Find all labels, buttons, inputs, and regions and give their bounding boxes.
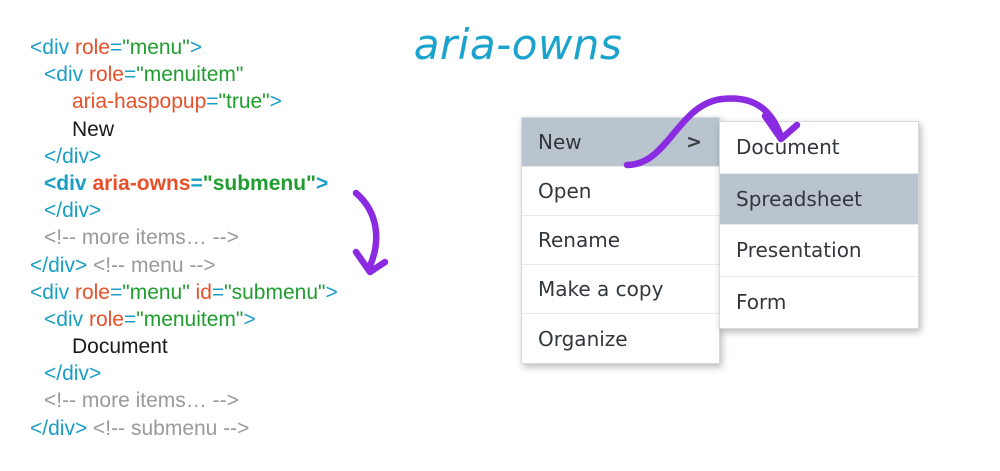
menu-item-label: Make a copy	[538, 277, 663, 301]
code-token-attr: role	[75, 281, 110, 304]
code-token-tag: >	[325, 281, 337, 304]
main-menu-item-open[interactable]: Open	[522, 167, 719, 216]
code-token-tag: </div>	[30, 254, 93, 277]
code-token-attr: id	[196, 281, 212, 304]
menu-item-label: Rename	[538, 228, 620, 252]
code-line: aria-haspopup="true">	[30, 88, 450, 115]
code-token-tag: <div	[44, 172, 92, 195]
code-line: </div> <!-- menu -->	[30, 252, 450, 279]
main-menu-item-make-a-copy[interactable]: Make a copy	[522, 265, 719, 314]
menu-item-label: Open	[538, 179, 591, 203]
menu-item-label: Document	[736, 135, 840, 159]
submenu-item-document[interactable]: Document	[720, 122, 918, 174]
code-token-attr: role	[89, 63, 124, 86]
code-token-tag: </div>	[44, 145, 101, 168]
code-token-val: "menuitem"	[136, 308, 243, 331]
code-token-tag: =	[212, 281, 224, 304]
code-line: </div>	[30, 197, 450, 224]
code-line: </div>	[30, 360, 450, 387]
code-token-comment: <!-- menu -->	[93, 254, 216, 277]
menu-item-label: Organize	[538, 327, 628, 351]
code-line: <div aria-owns="submenu">	[30, 170, 450, 197]
code-line: </div>	[30, 143, 450, 170]
code-line: </div> <!-- submenu -->	[30, 415, 450, 442]
code-line: <div role="menu">	[30, 34, 450, 61]
code-line: <div role="menuitem"	[30, 61, 450, 88]
chevron-right-icon: >	[686, 131, 702, 153]
code-token-comment: <!-- more items… -->	[44, 389, 239, 412]
code-token-attr: aria-owns	[92, 172, 190, 195]
code-token-tag: >	[243, 308, 255, 331]
code-token-attr: aria-haspopup	[72, 90, 206, 113]
menu-item-label: Form	[736, 290, 786, 314]
code-line: <!-- more items… -->	[30, 387, 450, 414]
code-token-val: "menuitem"	[136, 63, 243, 86]
code-token-tag: =	[110, 36, 122, 59]
submenu-panel[interactable]: DocumentSpreadsheetPresentationForm	[719, 121, 919, 329]
code-token-tag: =	[206, 90, 218, 113]
code-token-tag: <div	[30, 281, 75, 304]
code-token-val: "menu"	[122, 281, 189, 304]
code-snippet: <div role="menu"><div role="menuitem"ari…	[30, 34, 450, 442]
submenu-item-spreadsheet[interactable]: Spreadsheet	[720, 174, 918, 226]
code-token-comment: <!-- more items… -->	[44, 226, 239, 249]
code-token-comment: <!-- submenu -->	[93, 417, 249, 440]
code-token-tag: =	[190, 172, 202, 195]
menu-item-label: New	[538, 130, 582, 154]
submenu-item-presentation[interactable]: Presentation	[720, 225, 918, 277]
menu-item-label: Presentation	[736, 238, 862, 262]
code-token-val: "true"	[219, 90, 270, 113]
code-token-tag: </div>	[30, 417, 93, 440]
code-token-tag: <div	[44, 63, 89, 86]
code-line: Document	[30, 333, 450, 360]
code-token-attr: role	[75, 36, 110, 59]
main-menu-item-organize[interactable]: Organize	[522, 314, 719, 363]
code-token-attr: role	[89, 308, 124, 331]
code-token-tag: =	[124, 63, 136, 86]
code-token-tag: >	[270, 90, 282, 113]
code-token-tag: <div	[30, 36, 75, 59]
code-token-tag: >	[316, 172, 328, 195]
code-token-val: "menu"	[122, 36, 189, 59]
code-token-tag: </div>	[44, 362, 101, 385]
submenu-item-form[interactable]: Form	[720, 277, 918, 329]
code-line: New	[30, 116, 450, 143]
code-token-text: Document	[72, 335, 168, 358]
code-token-tag: =	[124, 308, 136, 331]
code-token-tag: </div>	[44, 199, 101, 222]
code-line: <div role="menuitem">	[30, 306, 450, 333]
main-menu-item-rename[interactable]: Rename	[522, 216, 719, 265]
code-token-tag: <div	[44, 308, 89, 331]
code-token-val: "submenu"	[224, 281, 325, 304]
menu-item-label: Spreadsheet	[736, 187, 862, 211]
code-line: <!-- more items… -->	[30, 224, 450, 251]
main-menu-item-new[interactable]: New>	[522, 118, 719, 167]
main-menu-panel[interactable]: New>OpenRenameMake a copyOrganize	[521, 117, 720, 364]
code-token-text: New	[72, 118, 114, 141]
code-token-tag: =	[110, 281, 122, 304]
code-token-val: "submenu"	[203, 172, 316, 195]
code-token-tag: >	[190, 36, 202, 59]
code-line: <div role="menu" id="submenu">	[30, 279, 450, 306]
